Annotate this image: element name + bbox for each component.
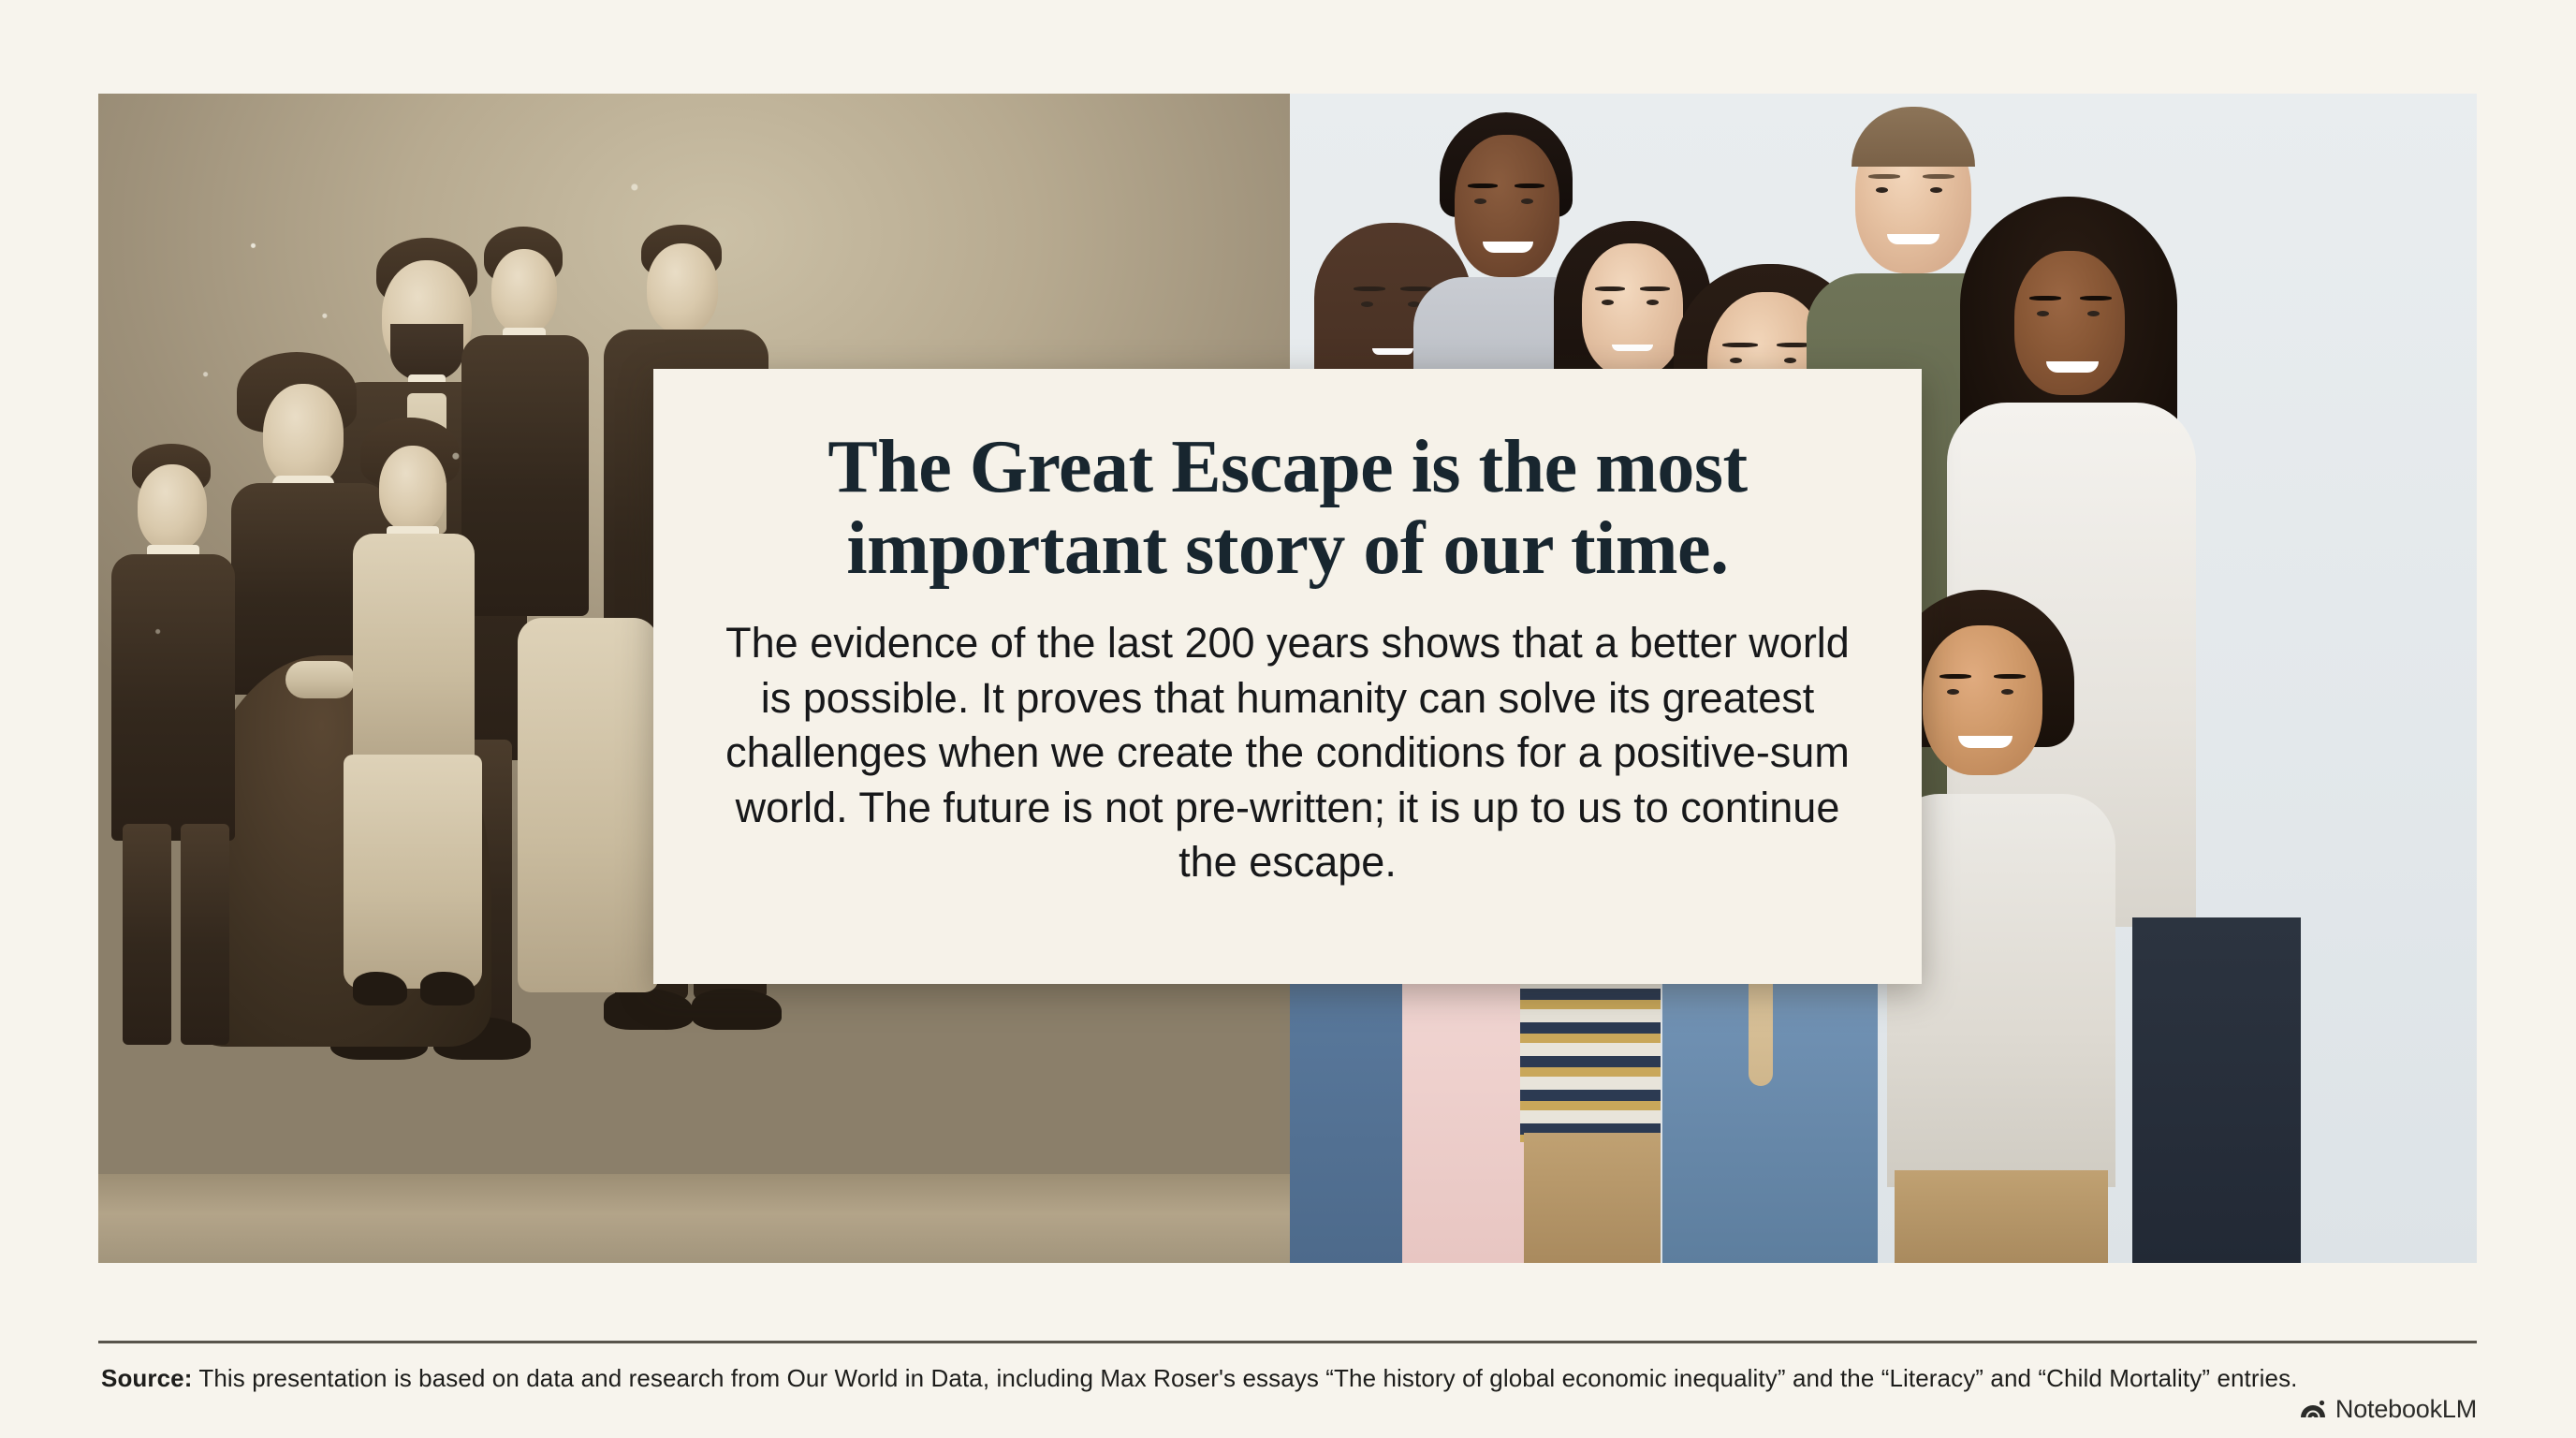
- boy-trousers: [1895, 1170, 2108, 1263]
- studio-floor: [98, 1174, 1290, 1263]
- subcopy-paragraph: The evidence of the last 200 years shows…: [722, 616, 1854, 890]
- footer-divider: [98, 1341, 2477, 1343]
- notebooklm-wordmark: NotebookLM: [2335, 1395, 2477, 1424]
- source-label: Source:: [101, 1364, 193, 1392]
- dark-trousers: [2132, 917, 2301, 1263]
- source-text: This presentation is based on data and r…: [193, 1364, 2298, 1392]
- presentation-slide: The Great Escape is the most important s…: [0, 0, 2576, 1438]
- source-note: Source: This presentation is based on da…: [101, 1363, 2480, 1394]
- notebooklm-arc-icon: [2299, 1395, 2327, 1424]
- notebooklm-branding: NotebookLM: [2299, 1395, 2477, 1424]
- page-title: The Great Escape is the most important s…: [733, 427, 1842, 590]
- khaki-trousers: [1524, 1133, 1661, 1263]
- headline-card: The Great Escape is the most important s…: [653, 369, 1922, 984]
